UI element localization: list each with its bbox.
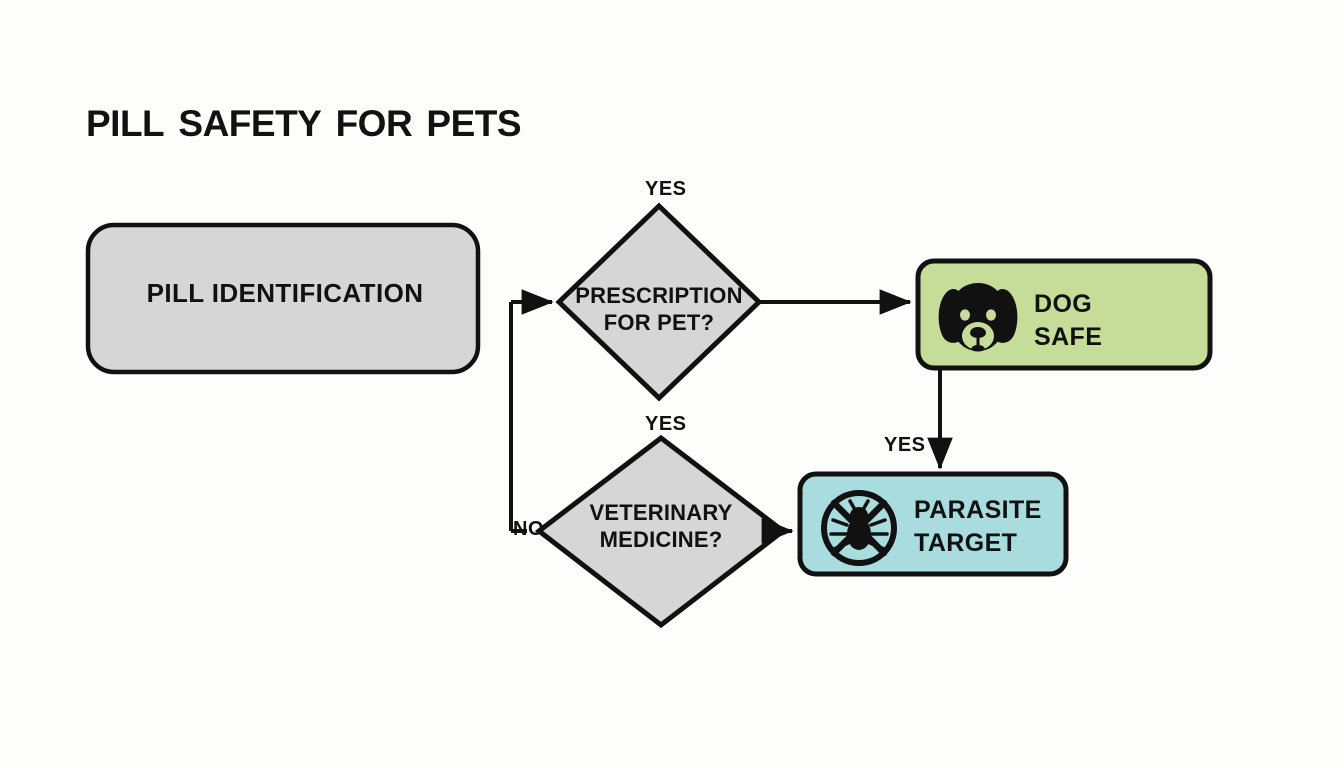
diagram-vector-layer — [0, 0, 1344, 768]
diagram-canvas: Pill Safety for Pets — [0, 0, 1344, 768]
node-pill-identification[interactable] — [88, 225, 478, 372]
dog-face-icon — [939, 283, 1018, 352]
node-veterinary-medicine[interactable] — [539, 438, 783, 625]
node-prescription-for-pet[interactable] — [559, 206, 759, 398]
